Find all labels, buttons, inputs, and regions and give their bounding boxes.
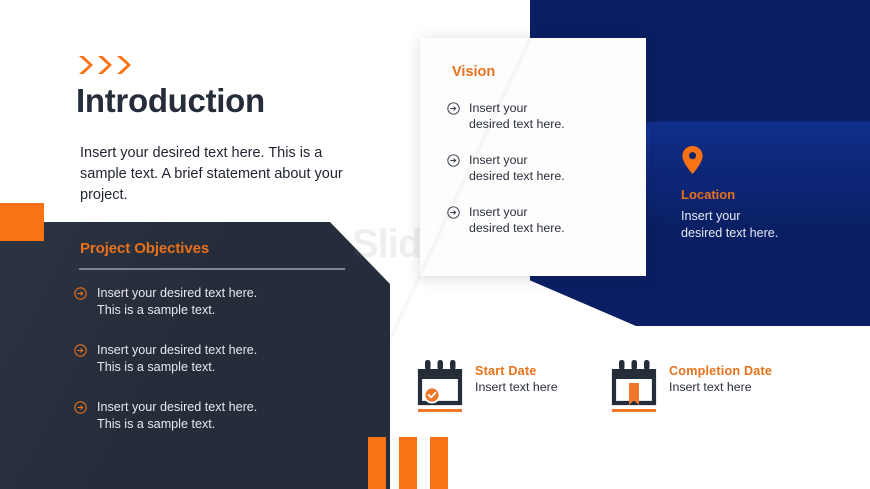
list-item-text: Insert yourdesired text here.	[469, 100, 565, 132]
list-item-line1: Insert your desired text here.	[97, 343, 257, 357]
location-text: Insert yourdesired text here.	[681, 208, 841, 242]
circle-arrow-right-icon	[74, 401, 87, 419]
list-item: Insert yourdesired text here.	[447, 152, 627, 184]
list-item-line2: This is a sample text.	[97, 360, 215, 374]
list-item-text: Insert your desired text here.This is a …	[97, 399, 257, 433]
start-date-value: Insert text here	[475, 380, 558, 394]
completion-date-block: Completion Date Insert text here	[610, 357, 772, 412]
list-item-line2: desired text here.	[469, 117, 565, 131]
vision-title: Vision	[452, 64, 495, 80]
list-item: Insert yourdesired text here.	[447, 204, 627, 236]
circle-arrow-right-icon	[74, 287, 87, 305]
location-block: Location Insert yourdesired text here.	[681, 145, 841, 242]
completion-date-label: Completion Date	[669, 364, 772, 378]
list-item-line1: Insert your	[469, 205, 528, 219]
list-item: Insert your desired text here.This is a …	[74, 342, 374, 376]
completion-date-underline	[612, 409, 656, 412]
list-item-line1: Insert your desired text here.	[97, 286, 257, 300]
project-objectives-list: Insert your desired text here.This is a …	[74, 285, 374, 456]
project-objectives-divider	[79, 268, 345, 270]
list-item-line2: This is a sample text.	[97, 417, 215, 431]
list-item: Insert yourdesired text here.	[447, 100, 627, 132]
list-item-text: Insert yourdesired text here.	[469, 152, 565, 184]
list-item-line2: desired text here.	[469, 221, 565, 235]
triple-chevron-right-icon	[78, 55, 132, 75]
map-pin-icon	[681, 145, 841, 180]
list-item-text: Insert yourdesired text here.	[469, 204, 565, 236]
location-line2: desired text here.	[681, 226, 778, 240]
list-item-line2: desired text here.	[469, 169, 565, 183]
list-item-text: Insert your desired text here.This is a …	[97, 285, 257, 319]
completion-date-value: Insert text here	[669, 380, 772, 394]
list-item: Insert your desired text here.This is a …	[74, 285, 374, 319]
circle-arrow-right-icon	[447, 206, 460, 224]
list-item-text: Insert your desired text here.This is a …	[97, 342, 257, 376]
orange-accent-square	[0, 203, 44, 241]
vision-card: Vision Insert yourdesired text here. Ins…	[420, 38, 646, 276]
calendar-check-icon	[416, 357, 464, 412]
location-line1: Insert your	[681, 209, 741, 223]
circle-arrow-right-icon	[74, 344, 87, 362]
intro-body-text: Insert your desired text here. This is a…	[80, 143, 350, 206]
start-date-underline	[418, 409, 462, 412]
list-item: Insert your desired text here.This is a …	[74, 399, 374, 433]
list-item-line1: Insert your	[469, 101, 528, 115]
calendar-bookmark-icon	[610, 357, 658, 412]
circle-arrow-right-icon	[447, 102, 460, 120]
list-item-line2: This is a sample text.	[97, 303, 215, 317]
slide-canvas: SlideModel.com Introduction Insert your …	[0, 0, 870, 489]
list-item-line1: Insert your desired text here.	[97, 400, 257, 414]
location-title: Location	[681, 187, 841, 202]
project-objectives-title: Project Objectives	[80, 240, 209, 257]
orange-bar-3	[430, 437, 448, 489]
circle-arrow-right-icon	[447, 154, 460, 172]
orange-bar-2	[399, 437, 417, 489]
start-date-label: Start Date	[475, 364, 558, 378]
orange-accent-bars	[368, 437, 464, 489]
vision-list: Insert yourdesired text here. Insert you…	[447, 100, 627, 256]
start-date-block: Start Date Insert text here	[416, 357, 558, 412]
list-item-line1: Insert your	[469, 153, 528, 167]
page-title: Introduction	[76, 82, 265, 120]
